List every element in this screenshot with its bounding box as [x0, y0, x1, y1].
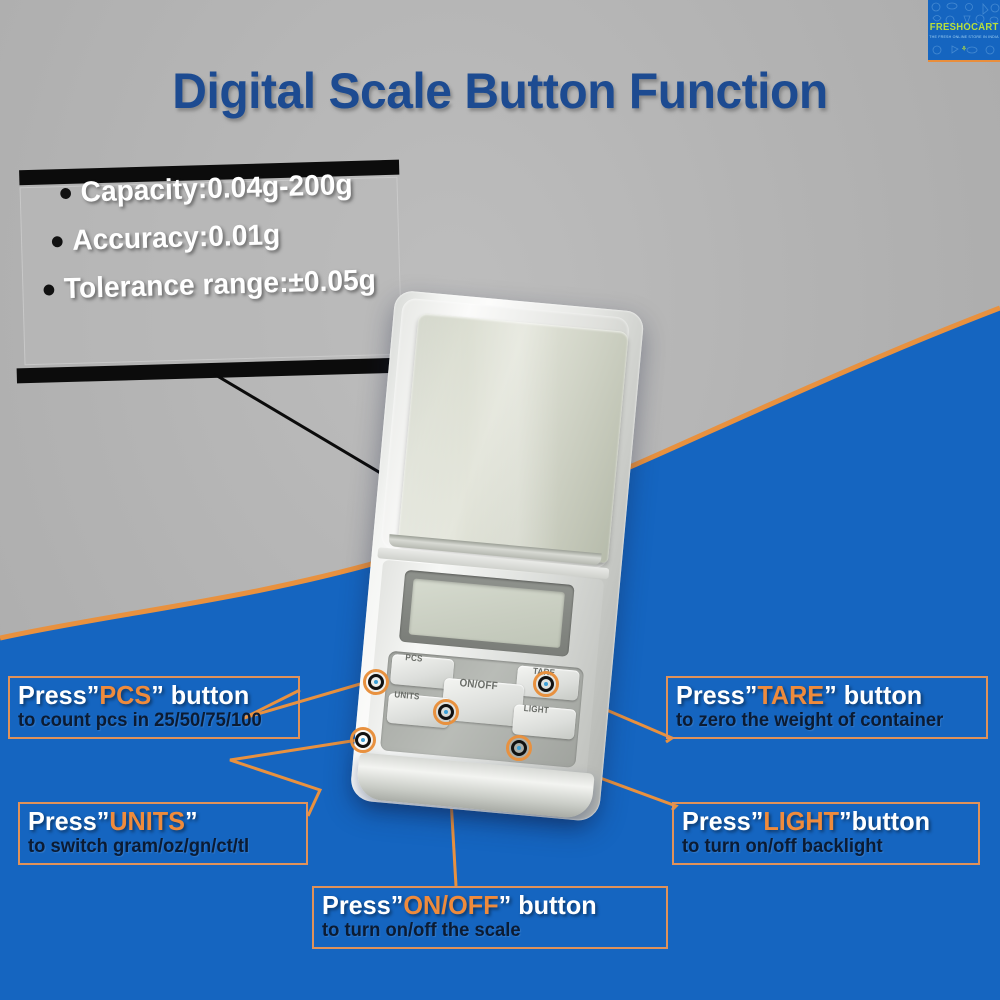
marker-tare[interactable]	[533, 671, 559, 697]
scale-lid	[380, 297, 630, 569]
callout-keyword: TARE	[757, 680, 824, 710]
spec-text: Accuracy:0.01g	[72, 221, 281, 256]
brand-mark-icon: ⚘	[928, 45, 1000, 53]
callout-keyword: LIGHT	[763, 806, 839, 836]
key-label-units: UNITS	[394, 689, 420, 701]
callout-subline: to turn on/off the scale	[322, 920, 648, 941]
spec-item: Accuracy:0.01g	[19, 218, 400, 258]
bullet-icon	[43, 284, 54, 295]
marker-light[interactable]	[506, 735, 532, 761]
weighing-platform	[398, 313, 629, 563]
lcd-bezel	[399, 570, 575, 657]
spec-list: Capacity:0.04g-200g Accuracy:0.01g Toler…	[11, 170, 407, 325]
bullet-icon	[60, 188, 71, 199]
callout-suffix: ”button	[839, 806, 930, 836]
callout-keyword: PCS	[99, 680, 151, 710]
callout-units[interactable]: Press”UNITS” to switch gram/oz/gn/ct/tl	[18, 802, 308, 865]
specification-panel: Capacity:0.04g-200g Accuracy:0.01g Toler…	[11, 160, 409, 386]
bullet-icon	[52, 236, 63, 247]
callout-light[interactable]: Press”LIGHT”button to turn on/off backli…	[672, 802, 980, 865]
callout-tare[interactable]: Press”TARE” button to zero the weight of…	[666, 676, 988, 739]
lcd-display	[409, 579, 565, 649]
callout-suffix: ” button	[499, 890, 597, 920]
callout-subline: to zero the weight of container	[676, 710, 969, 731]
callout-suffix: ” button	[151, 680, 249, 710]
marker-pcs[interactable]	[363, 669, 389, 695]
brand-name: FRESHOCART	[930, 22, 998, 33]
callout-subline: to count pcs in 25/50/75/100	[18, 710, 282, 731]
platform-sheen	[398, 313, 629, 563]
callout-keyword: UNITS	[109, 806, 185, 836]
callout-headline: Press”LIGHT”button	[682, 808, 961, 836]
infographic-canvas: Digital Scale Button Function FRESHOCAR	[0, 0, 1000, 1000]
callout-prefix: Press”	[18, 680, 99, 710]
brand-tagline: THE FRESH ONLINE STORE IN INDIA	[928, 35, 1000, 39]
brand-logo[interactable]: FRESHOCART THE FRESH ONLINE STORE IN IND…	[928, 0, 1000, 62]
callout-subline: to switch gram/oz/gn/ct/tl	[28, 836, 290, 857]
spec-item: Tolerance range:±0.05g	[20, 266, 401, 306]
callout-prefix: Press”	[322, 890, 403, 920]
callout-headline: Press”UNITS”	[28, 808, 290, 836]
callout-pcs[interactable]: Press”PCS” button to count pcs in 25/50/…	[8, 676, 300, 739]
callout-keyword: ON/OFF	[403, 890, 498, 920]
page-title: Digital Scale Button Function	[20, 62, 980, 120]
spec-text: Tolerance range:±0.05g	[64, 266, 377, 304]
callout-prefix: Press”	[676, 680, 757, 710]
callout-subline: to turn on/off backlight	[682, 836, 961, 857]
callout-suffix: ” button	[824, 680, 922, 710]
spec-text: Capacity:0.04g-200g	[80, 171, 353, 208]
callout-prefix: Press”	[28, 806, 109, 836]
key-label-light: LIGHT	[523, 703, 549, 715]
callout-headline: Press”ON/OFF” button	[322, 892, 648, 920]
key-label-pcs: PCS	[405, 652, 423, 664]
callout-suffix: ”	[185, 806, 198, 836]
digital-scale-device: PCS TARE ON/OFF UNITS LIGHT	[349, 290, 644, 823]
marker-units[interactable]	[350, 727, 376, 753]
callout-prefix: Press”	[682, 806, 763, 836]
callout-onoff[interactable]: Press”ON/OFF” button to turn on/off the …	[312, 886, 668, 949]
callout-headline: Press”PCS” button	[18, 682, 282, 710]
marker-onoff[interactable]	[433, 699, 459, 725]
callout-headline: Press”TARE” button	[676, 682, 969, 710]
